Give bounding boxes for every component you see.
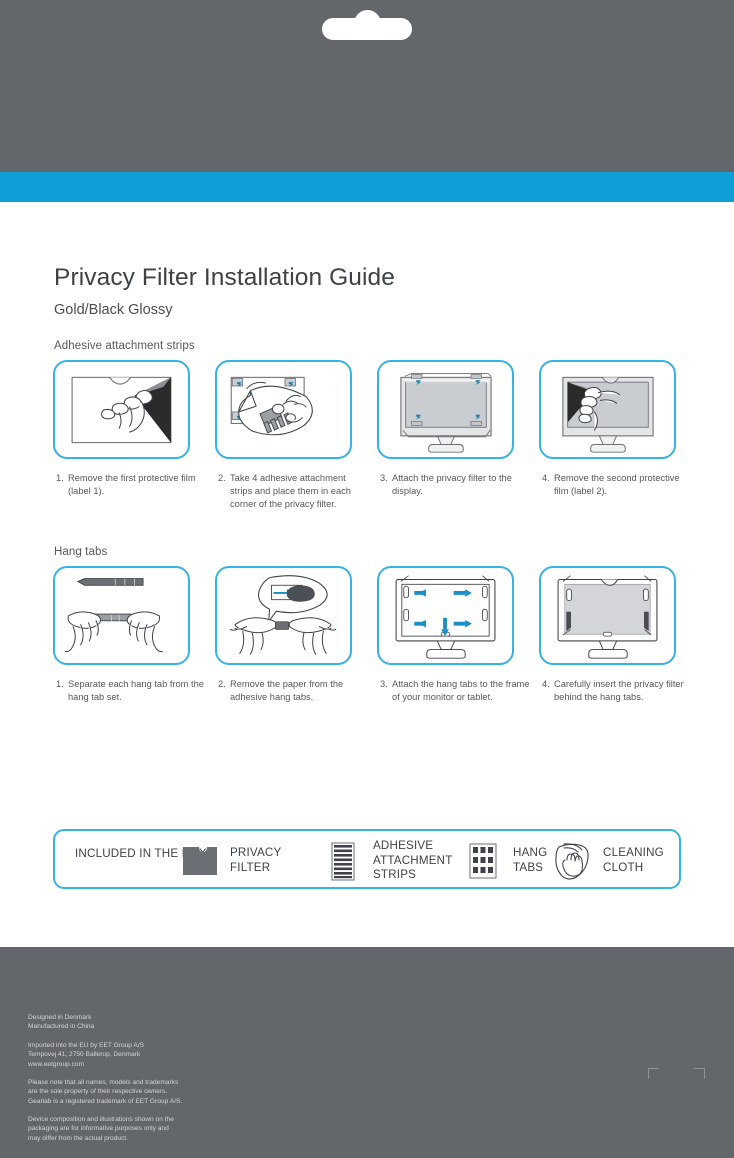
crop-mark-right: [694, 1068, 705, 1079]
guide-card: Privacy Filter Installation Guide Gold/B…: [0, 202, 734, 947]
box-item-label: CLEANING CLOTH: [603, 846, 664, 876]
page-title: Privacy Filter Installation Guide: [54, 264, 395, 292]
step-number: 4.: [542, 472, 550, 485]
box-item-label: PRIVACY FILTER: [230, 846, 281, 876]
step-number: 3.: [380, 678, 388, 691]
caption-step-1-4: 4. Remove the second protective film (la…: [542, 472, 692, 498]
box-item-hang-tabs: HANG TABS: [460, 838, 547, 884]
caption-step-1-2: 2. Take 4 adhesive attachment strips and…: [218, 472, 368, 512]
illustration-attach-filter-to-display: [377, 360, 514, 459]
illustration-attach-hang-tabs: [377, 566, 514, 665]
illustration-separate-hang-tab: [53, 566, 190, 665]
box-contents-strip: INCLUDED IN THE BOX PRIVACY FILTER: [53, 829, 681, 889]
box-item-adhesive-strips: ADHESIVE ATTACHMENT STRIPS: [320, 838, 453, 884]
illustration-insert-filter-behind-tabs: [539, 566, 676, 665]
step-number: 2.: [218, 472, 226, 485]
caption-step-2-2: 2. Remove the paper from the adhesive ha…: [218, 678, 368, 704]
step-text: Remove the paper from the adhesive hang …: [218, 678, 368, 704]
box-item-cleaning-cloth: CLEANING CLOTH: [550, 838, 664, 884]
box-item-label: HANG TABS: [513, 846, 547, 876]
accent-band: [0, 172, 734, 202]
footer-importer: Imported into the EU by EET Group A/S Te…: [28, 1041, 278, 1069]
footer-trademark: Please note that all names, models and t…: [28, 1078, 278, 1106]
section-label-adhesive-strips: Adhesive attachment strips: [54, 340, 195, 352]
hang-hole-knob: [354, 10, 381, 37]
caption-step-1-3: 3. Attach the privacy filter to the disp…: [380, 472, 530, 498]
footer-origin: Designed in Denmark Manufactured in Chin…: [28, 1013, 278, 1032]
step-text: Carefully insert the privacy filter behi…: [542, 678, 692, 704]
page-subtitle: Gold/Black Glossy: [54, 302, 172, 318]
illustration-place-adhesive-strips: [215, 360, 352, 459]
privacy-filter-icon: [177, 838, 223, 884]
step-text: Remove the first protective film (label …: [56, 472, 206, 498]
caption-step-2-4: 4. Carefully insert the privacy filter b…: [542, 678, 692, 704]
step-number: 1.: [56, 678, 64, 691]
hang-tabs-icon: [460, 838, 506, 884]
illustration-remove-first-film: [53, 360, 190, 459]
step-text: Remove the second protective film (label…: [542, 472, 692, 498]
adhesive-strips-icon: [320, 838, 366, 884]
caption-step-2-1: 1. Separate each hang tab from the hang …: [56, 678, 206, 704]
step-number: 2.: [218, 678, 226, 691]
illustration-remove-second-film: [539, 360, 676, 459]
step-text: Separate each hang tab from the hang tab…: [56, 678, 206, 704]
step-number: 4.: [542, 678, 550, 691]
footer-disclaimer: Device composition and illustrations sho…: [28, 1115, 278, 1143]
caption-step-2-3: 3. Attach the hang tabs to the frame of …: [380, 678, 530, 704]
step-text: Attach the privacy filter to the display…: [380, 472, 530, 498]
step-number: 1.: [56, 472, 64, 485]
box-item-privacy-filter: PRIVACY FILTER: [177, 838, 281, 884]
step-text: Attach the hang tabs to the frame of you…: [380, 678, 530, 704]
section-label-hang-tabs: Hang tabs: [54, 546, 107, 558]
illustration-remove-paper-from-tabs: [215, 566, 352, 665]
step-number: 3.: [380, 472, 388, 485]
step-text: Take 4 adhesive attachment strips and pl…: [218, 472, 368, 512]
box-item-label: ADHESIVE ATTACHMENT STRIPS: [373, 839, 453, 883]
caption-step-1-1: 1. Remove the first protective film (lab…: [56, 472, 206, 498]
crop-mark-left: [648, 1068, 659, 1079]
cleaning-cloth-icon: [550, 838, 596, 884]
packaging-insert: Privacy Filter Installation Guide Gold/B…: [0, 0, 734, 1158]
